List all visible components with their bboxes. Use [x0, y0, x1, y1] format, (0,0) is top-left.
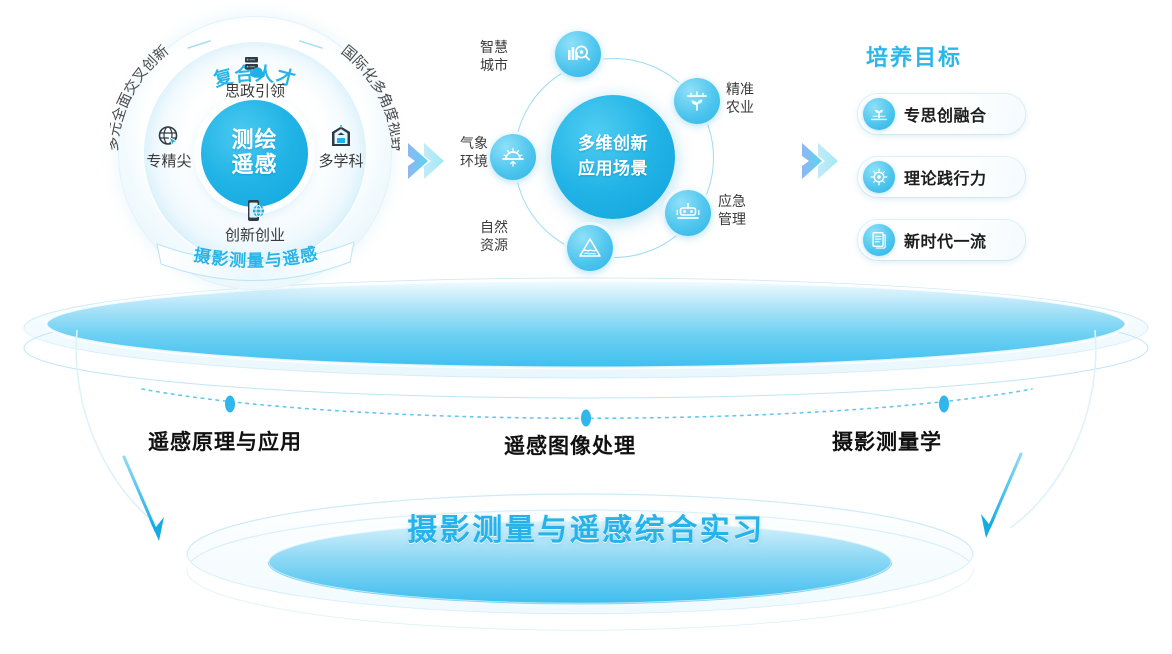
globe-cursor-icon: [156, 124, 182, 150]
left-node-left-label: 专精尖: [146, 153, 191, 170]
diagram-canvas: 遥感原理与应用 遥感图像处理 摄影测量学: [0, 0, 1172, 654]
goal-label-1: 专思创融合: [904, 102, 987, 126]
goal-section-title: 培养目标: [866, 40, 1058, 72]
left-node-right-label: 多学科: [318, 153, 363, 170]
precision-agriculture-icon: [684, 88, 710, 114]
orbit-node-smart-city[interactable]: [555, 31, 601, 77]
orbit-node-agriculture[interactable]: [674, 78, 720, 124]
left-ribbon-text: 摄影测量与遥感: [192, 243, 320, 271]
left-node-top[interactable]: 思政引领: [209, 54, 301, 100]
mid-core-line2: 应用场景: [578, 157, 648, 182]
left-core-line2: 遥感: [231, 154, 277, 179]
orbit-label-agriculture: 精准 农业: [726, 82, 786, 117]
left-node-top-label: 思政引领: [225, 83, 285, 100]
left-core-line1: 测绘: [231, 129, 277, 154]
orbit-label-resources-l1: 自然: [452, 220, 508, 238]
course-label-1: 遥感原理与应用: [148, 426, 302, 456]
double-chevron-right-icon-2: [800, 138, 842, 184]
orbit-label-weather-l2: 环境: [432, 154, 488, 172]
orbit-label-smart-city: 智慧 城市: [454, 40, 508, 75]
natural-resources-icon: [577, 235, 603, 261]
new-era-icon: [863, 224, 895, 256]
orbit-label-resources-l2: 资源: [452, 238, 508, 256]
right-cluster: 培养目标 专思创融合: [858, 40, 1058, 280]
smart-city-search-icon: [565, 41, 591, 67]
goal-pill-1[interactable]: 专思创融合: [858, 94, 1025, 134]
orbit-label-emergency-l2: 管理: [718, 212, 778, 230]
school-building-icon: [328, 124, 354, 150]
orbit-node-resources[interactable]: [567, 225, 613, 271]
bottom-platform-graphic: [185, 492, 975, 642]
orbit-label-agriculture-l2: 农业: [726, 100, 786, 118]
theory-practice-icon: [863, 161, 895, 193]
left-node-right[interactable]: 多学科: [301, 124, 381, 170]
goal-pill-2[interactable]: 理论践行力: [858, 157, 1025, 197]
orbit-label-resources: 自然 资源: [452, 220, 508, 255]
mid-core-line1: 多维创新: [578, 132, 648, 157]
mobile-globe-icon: [242, 198, 268, 224]
server-cloud-icon: [242, 54, 268, 80]
goal-pill-3[interactable]: 新时代一流: [858, 220, 1025, 260]
emergency-management-icon: [675, 200, 701, 226]
orbit-label-smart-city-l2: 城市: [454, 58, 508, 76]
left-ribbon-banner: 摄影测量与遥感: [153, 238, 358, 286]
orbit-label-smart-city-l1: 智慧: [454, 40, 508, 58]
goal-label-2: 理论践行力: [904, 165, 987, 189]
orbit-label-agriculture-l1: 精准: [726, 82, 786, 100]
orbit-label-weather: 气象 环境: [432, 136, 488, 171]
integration-icon: [863, 98, 895, 130]
weather-environment-icon: [500, 144, 526, 170]
left-core-circle[interactable]: 测绘 遥感: [201, 100, 308, 207]
left-node-left[interactable]: 专精尖: [129, 124, 209, 170]
orbit-node-emergency[interactable]: [665, 190, 711, 236]
course-label-2: 遥感图像处理: [504, 430, 636, 460]
orbit-label-weather-l1: 气象: [432, 136, 488, 154]
orbit-node-weather[interactable]: [490, 134, 536, 180]
orbit-label-emergency-l1: 应急: [718, 194, 778, 212]
mid-cluster: 多维创新 应用场景 智慧 城市: [498, 42, 728, 272]
goal-label-3: 新时代一流: [904, 228, 987, 252]
mid-core-circle[interactable]: 多维创新 应用场景: [551, 95, 675, 219]
arrow-down-left-icon: [118, 455, 188, 555]
orbit-label-emergency: 应急 管理: [718, 194, 778, 229]
svg-text:摄影测量与遥感: 摄影测量与遥感: [192, 243, 320, 271]
course-label-3: 摄影测量学: [832, 426, 942, 456]
